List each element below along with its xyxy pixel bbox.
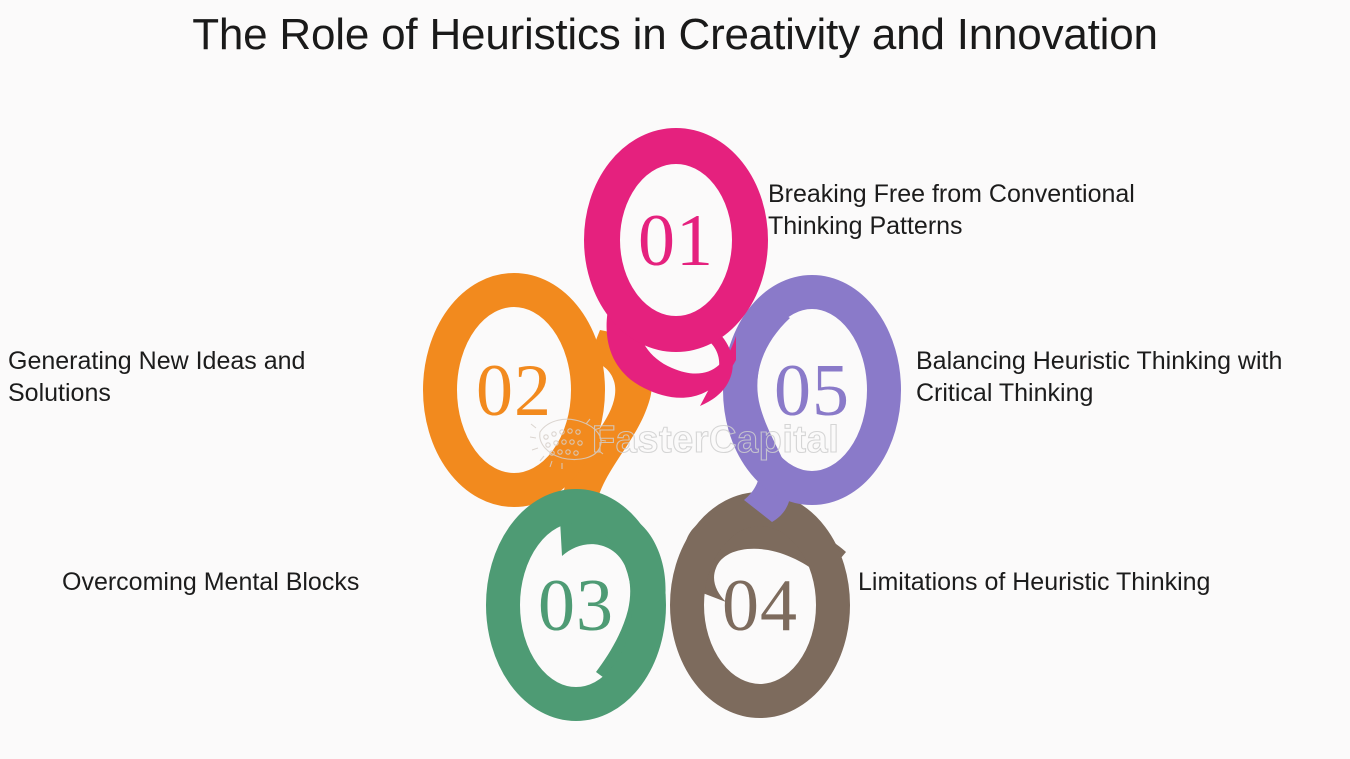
petal-03-number: 03 [538,565,614,647]
petal-03[interactable]: 03 [503,506,666,704]
segment-label-03: Overcoming Mental Blocks [62,566,402,598]
infographic-canvas: The Role of Heuristics in Creativity and… [0,0,1350,759]
segment-label-02: Generating New Ideas and Solutions [8,345,348,409]
petal-01[interactable]: 01 [602,146,750,406]
petal-01-number: 01 [638,200,714,282]
segment-label-05: Balancing Heuristic Thinking with Critic… [916,345,1326,409]
petal-05[interactable]: 05 [724,292,884,522]
petal-04-number: 04 [722,565,798,647]
petal-02-number: 02 [476,350,552,432]
watermark-text: FasterCapital [592,419,839,461]
segment-label-01: Breaking Free from Conventional Thinking… [768,178,1188,242]
segment-label-04: Limitations of Heuristic Thinking [858,566,1258,598]
petal-04[interactable]: 04 [684,509,846,701]
